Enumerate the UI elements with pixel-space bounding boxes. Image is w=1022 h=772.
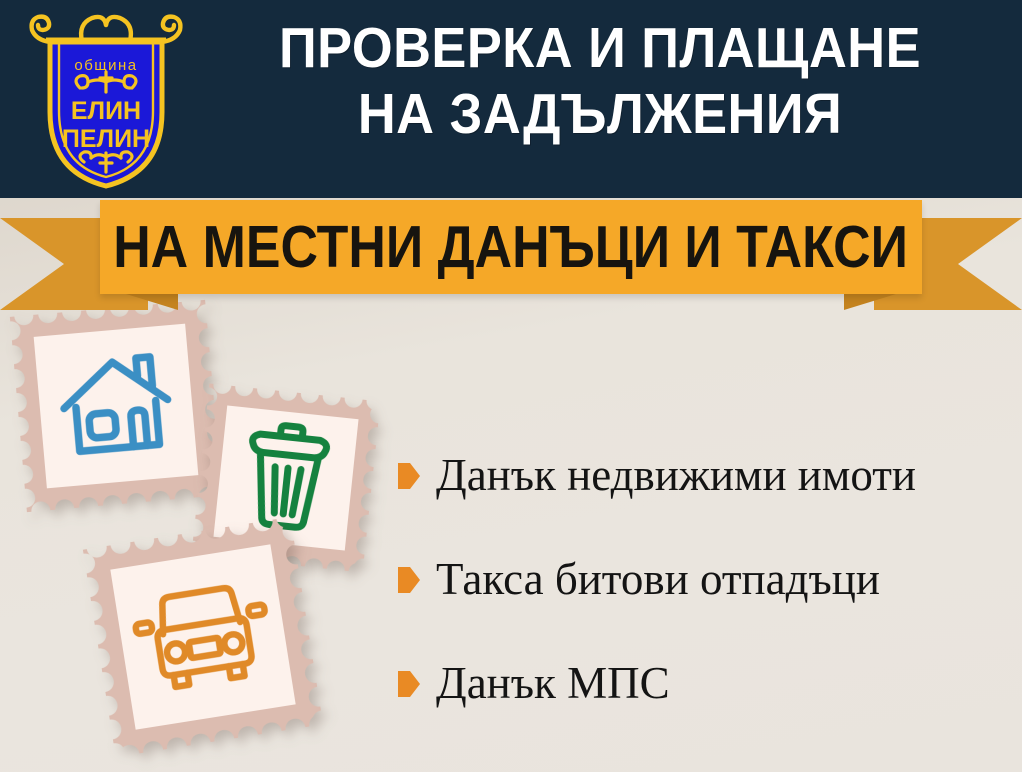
coat-of-arms-icon: община ЕЛИН ПЕЛИН <box>22 8 190 190</box>
list-item-label: Такса битови отпадъци <box>436 555 880 605</box>
stamp-card-car <box>83 517 323 757</box>
ribbon-label: НА МЕСТНИ ДАНЪЦИ И ТАКСИ <box>114 218 909 277</box>
ribbon-main-band: НА МЕСТНИ ДАНЪЦИ И ТАКСИ <box>100 200 922 294</box>
bullet-arrow-icon <box>398 463 420 489</box>
page-title-line-2: НА ЗАДЪЛЖЕНИЯ <box>223 82 977 148</box>
list-item[interactable]: Данък МПС <box>398 632 1018 736</box>
stamp-card-house <box>10 300 222 512</box>
bullet-arrow-icon <box>398 671 420 697</box>
ribbon-banner: НА МЕСТНИ ДАНЪЦИ И ТАКСИ <box>0 196 1022 316</box>
list-item[interactable]: Данък недвижими имоти <box>398 424 1018 528</box>
tax-type-list: Данък недвижими имоти Такса битови отпад… <box>398 424 1018 736</box>
list-item[interactable]: Такса битови отпадъци <box>398 528 1018 632</box>
crest-line-main-2: ПЕЛИН <box>62 125 150 153</box>
page-title-line-1: ПРОВЕРКА И ПЛАЩАНЕ <box>279 16 921 80</box>
stamp-card-group <box>0 300 420 772</box>
crest-line-main-1: ЕЛИН <box>71 97 141 125</box>
poster-canvas: ПРОВЕРКА И ПЛАЩАНЕ НА ЗАДЪЛЖЕНИЯ община <box>0 0 1022 772</box>
list-item-label: Данък МПС <box>436 659 670 709</box>
bullet-arrow-icon <box>398 567 420 593</box>
list-item-label: Данък недвижими имоти <box>436 451 916 501</box>
page-title: ПРОВЕРКА И ПЛАЩАНЕ НА ЗАДЪЛЖЕНИЯ <box>223 16 977 147</box>
